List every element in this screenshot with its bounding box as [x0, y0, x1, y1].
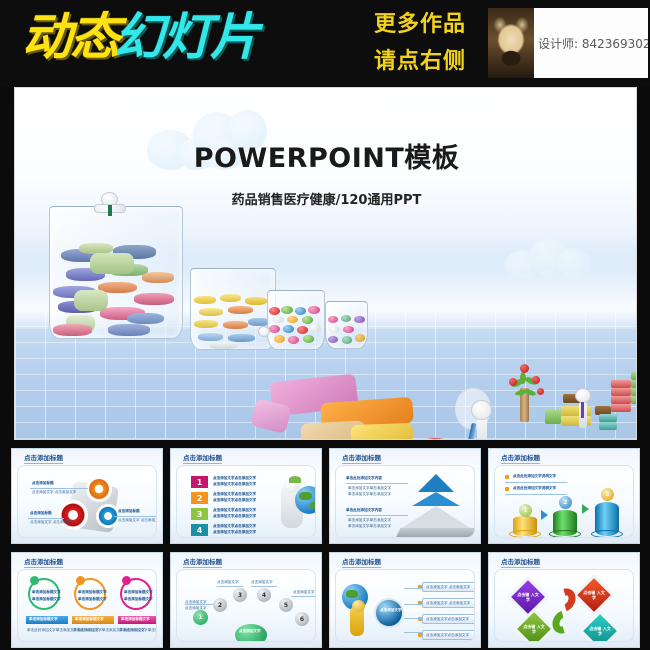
thumb-heading: 单击此处添加文字内容 [346, 508, 382, 513]
pyramid-tier-base [402, 506, 470, 528]
thumb-body: 单击添加文字单击添加文字 [348, 518, 391, 523]
mascot-tie-icon [581, 402, 584, 418]
thumb-body: 单击添加文字单击添加文字 [348, 524, 391, 529]
arrow-icon [582, 504, 589, 514]
thumbnail-slide[interactable]: 点击添加标题 点击输 入文字 点击输 入文字 点击输 入文字 点击输 入文字 [488, 552, 640, 648]
thumb-label: 单击添加标题文字 [78, 590, 107, 595]
thumb-title: 点击添加标题 [342, 556, 381, 568]
thumbnail-slide[interactable]: 点击添加标题 点击添加文字 点击添加文字 点击添加文字 点击添加文字 点击添加文… [329, 552, 481, 648]
thumb-row: 点击添加文字点击添加文字 [213, 492, 256, 497]
beaker-large [49, 206, 183, 339]
cylinder-base [591, 530, 623, 538]
diamond-label: 点击输 入文字 [582, 590, 606, 600]
mascot-hat-icon [289, 476, 301, 483]
thumb-label: 点击添加标题 [32, 481, 54, 486]
mascot-body [477, 418, 487, 440]
badge-dot [30, 576, 39, 585]
arrow-icon [541, 510, 548, 520]
promo-line-2: 请点右侧 [374, 43, 466, 80]
sphere-1: 1 [519, 504, 532, 517]
beaker-tiny [325, 301, 368, 349]
number-chip: 1 [191, 476, 208, 488]
column-header-text: 单击添加标题文字 [121, 617, 150, 622]
designer-avatar-icon [488, 8, 534, 78]
thumbnail-slide[interactable]: 点击添加标题 1 2 3 4 5 6 点击添加文字 点击添加文字 点击添加文字 … [170, 552, 322, 648]
ring-orange [86, 476, 112, 502]
thumbnail-slide[interactable]: 点击添加标题 单击此处添加文字内容 单击添加文字单击添加文字 单击添加文字单击添… [329, 448, 481, 544]
column-header-text: 单击添加标题文字 [75, 617, 104, 622]
sphere-3: 3 [601, 488, 614, 501]
thumb-row: 点击添加文字点击添加文字 [213, 524, 256, 529]
cylinder-base [509, 530, 541, 538]
thumb-label: 点击添加标题 [30, 511, 52, 516]
list-item-text: 点击添加文字点击添加文字 [426, 633, 469, 638]
thumb-canvas: 点击添加标题 点击添加文字 点击添加文字 点击添加标题 点击添加文字 点击添加文… [17, 465, 157, 538]
thumb-label: 单击添加标题文字 [78, 597, 107, 602]
thumb-row: 点击添加文字点击添加文字 [213, 476, 256, 481]
thumbnail-slide[interactable]: 点击添加标题 点击此处添加文字说明文字 点击此处添加文字说明文字 1 2 3 [488, 448, 640, 544]
brand-logo: 动态幻灯片 [22, 6, 258, 68]
thumb-title: 点击添加标题 [342, 452, 381, 464]
mascot-head-icon [471, 400, 492, 420]
diamond-label: 点击输 入文字 [588, 626, 612, 636]
arrow-cycle-green [548, 607, 577, 638]
diamond-teal: 点击输 入文字 [579, 610, 621, 642]
thumb-label: 单击添加标题文字 [124, 597, 153, 602]
pyramid-tier-top [418, 474, 454, 492]
thumb-canvas: 单击添加标题文字 单击添加标题文字 单击添加标题文字 单击添加标题文字 单击添加… [17, 569, 157, 642]
diamond-label: 点击输 入文字 [516, 592, 540, 602]
thumb-body: 点击添加文字 点击添加文字 [118, 518, 157, 523]
thumbnail-slide[interactable]: 点击添加标题 点击添加标题 点击添加文字 点击添加文字 点击添加标题 点击添加文… [11, 448, 163, 544]
main-slide-preview[interactable]: POWERPOINT模板 药品销售医疗健康/120通用PPT [14, 87, 637, 440]
thumb-title: 点击添加标题 [24, 452, 63, 464]
node-4: 4 [257, 588, 271, 602]
thumb-title: 点击添加标题 [24, 556, 63, 568]
diamond-green: 点击输 入文字 [513, 608, 555, 642]
mascot-head-icon [258, 326, 270, 337]
thumb-title: 点击添加标题 [183, 556, 222, 568]
pyramid-shadow [396, 528, 475, 538]
callout: 点击添加文字 [293, 590, 315, 595]
badge-dot [122, 576, 131, 585]
thumb-label: 单击添加标题文字 [32, 590, 61, 595]
node-5: 5 [279, 598, 293, 612]
center-label: 点击添加文字 [239, 629, 261, 634]
thumb-canvas: 1 2 3 4 5 6 点击添加文字 点击添加文字 点击添加文字 点击添加文字 … [176, 569, 316, 642]
diamond-label: 点击输 入文字 [522, 624, 546, 634]
page-title: POWERPOINT模板 [15, 136, 637, 175]
pyramid-tier-mid [412, 492, 460, 506]
number-chip: 4 [191, 524, 208, 536]
list-item-text: 点击添加文字点击添加文字 [426, 617, 469, 622]
thumb-title: 点击添加标题 [183, 452, 222, 464]
mascot-head-icon [352, 600, 365, 612]
globe-icon [295, 486, 316, 514]
column-header-text: 单击添加标题文字 [29, 617, 58, 622]
thumb-body: 单击此处添加文字单击添加文字单击添加文字 [119, 628, 157, 633]
thumb-heading: 单击此处添加文字内容 [346, 476, 382, 481]
beaker-small [267, 290, 325, 350]
thumb-row: 点击添加文字点击添加文字 [213, 498, 256, 503]
list-item-text: 点击添加文字 点击添加文字 [426, 601, 470, 606]
node-2: 2 [213, 598, 227, 612]
thumb-body: 点击添加文字 点击添加文字 [32, 490, 76, 495]
thumb-canvas: 点击此处添加文字说明文字 点击此处添加文字说明文字 1 2 3 [494, 465, 634, 538]
brand-text-primary: 动态 [22, 8, 118, 66]
thumb-row: 点击添加文字点击添加文字 [213, 482, 256, 487]
globe-land [310, 502, 316, 509]
thumbnail-slide[interactable]: 点击添加标题 单击添加标题文字 单击添加标题文字 单击添加标题文字 单击添加标题… [11, 552, 163, 648]
thumb-title: 点击添加标题 [501, 556, 540, 568]
gum-yellow [351, 423, 414, 440]
designer-card[interactable]: 设计师: 842369302 [488, 8, 648, 78]
center-label: 点击添加文字 点击添加文字 [380, 608, 424, 613]
number-chip: 3 [191, 508, 208, 520]
thumb-canvas: 1 2 3 4 点击添加文字点击添加文字 点击添加文字点击添加文字 点击添加文字… [176, 465, 316, 538]
thumb-label: 单击添加标题文字 [32, 597, 61, 602]
thumb-canvas: 单击此处添加文字内容 单击添加文字单击添加文字 单击添加文字单击添加文字 单击此… [335, 465, 475, 538]
candy-fill [268, 305, 324, 349]
thumb-label: 点击添加标题 [118, 509, 140, 514]
thumb-body: 单击添加文字单击添加文字 [348, 492, 391, 497]
node-3: 3 [233, 588, 247, 602]
thumb-body: 单击添加文字单击添加文字 [348, 486, 391, 491]
cylinder-base [549, 530, 581, 538]
thumb-row: 点击添加文字点击添加文字 [213, 530, 256, 535]
thumbnail-slide[interactable]: 点击添加标题 1 2 3 4 点击添加文字点击添加文字 点击添加文字点击添加文字… [170, 448, 322, 544]
number-chip: 2 [191, 492, 208, 504]
thumb-bullet: 点击此处添加文字说明文字 [513, 486, 556, 491]
ring-red [58, 500, 88, 530]
thumb-canvas: 点击添加文字 点击添加文字 点击添加文字 点击添加文字 点击添加文字 点击添加文… [335, 569, 475, 642]
brand-text-secondary: 幻灯片 [114, 8, 258, 66]
thumb-label: 单击添加标题文字 [124, 590, 153, 595]
candy-fill [191, 291, 275, 349]
thumb-bullet: 点击此处添加文字说明文字 [513, 474, 556, 479]
promo-text: 更多作品 请点右侧 [374, 6, 466, 80]
sphere-2: 2 [559, 496, 572, 509]
thumb-body: 点击添加文字 点击添加文字 [30, 520, 74, 525]
globe-land [346, 590, 358, 598]
mascot-tie-icon [108, 205, 112, 216]
mascot-head-icon [575, 388, 591, 403]
badge-dot [76, 576, 85, 585]
list-item-text: 点击添加文字 点击添加文字 [426, 585, 470, 590]
callout: 点击添加文字 [185, 606, 207, 611]
header-bar: 动态幻灯片 更多作品 请点右侧 设计师: 842369302 [0, 0, 650, 86]
candy-fill [50, 241, 182, 338]
thumb-title: 点击添加标题 [501, 452, 540, 464]
node-1: 1 [193, 610, 208, 625]
center-circle [374, 598, 404, 628]
beaker-medium [190, 268, 276, 350]
globe-land [299, 492, 312, 500]
diamond-red: 点击输 入文字 [573, 574, 615, 616]
thumb-canvas: 点击输 入文字 点击输 入文字 点击输 入文字 点击输 入文字 [494, 569, 634, 642]
designer-id-label: 设计师: 842369302 [534, 35, 648, 52]
callout: 点击添加文字 [251, 580, 273, 585]
thumb-row: 点击添加文字点击添加文字 [213, 514, 256, 519]
node-6: 6 [295, 612, 309, 626]
thumb-row: 点击添加文字点击添加文字 [213, 508, 256, 513]
callout: 点击添加文字 [217, 580, 239, 585]
promo-line-1: 更多作品 [374, 6, 466, 43]
candy-fill [326, 314, 367, 348]
thumbnail-grid: 点击添加标题 点击添加标题 点击添加文字 点击添加文字 点击添加标题 点击添加文… [11, 448, 641, 648]
